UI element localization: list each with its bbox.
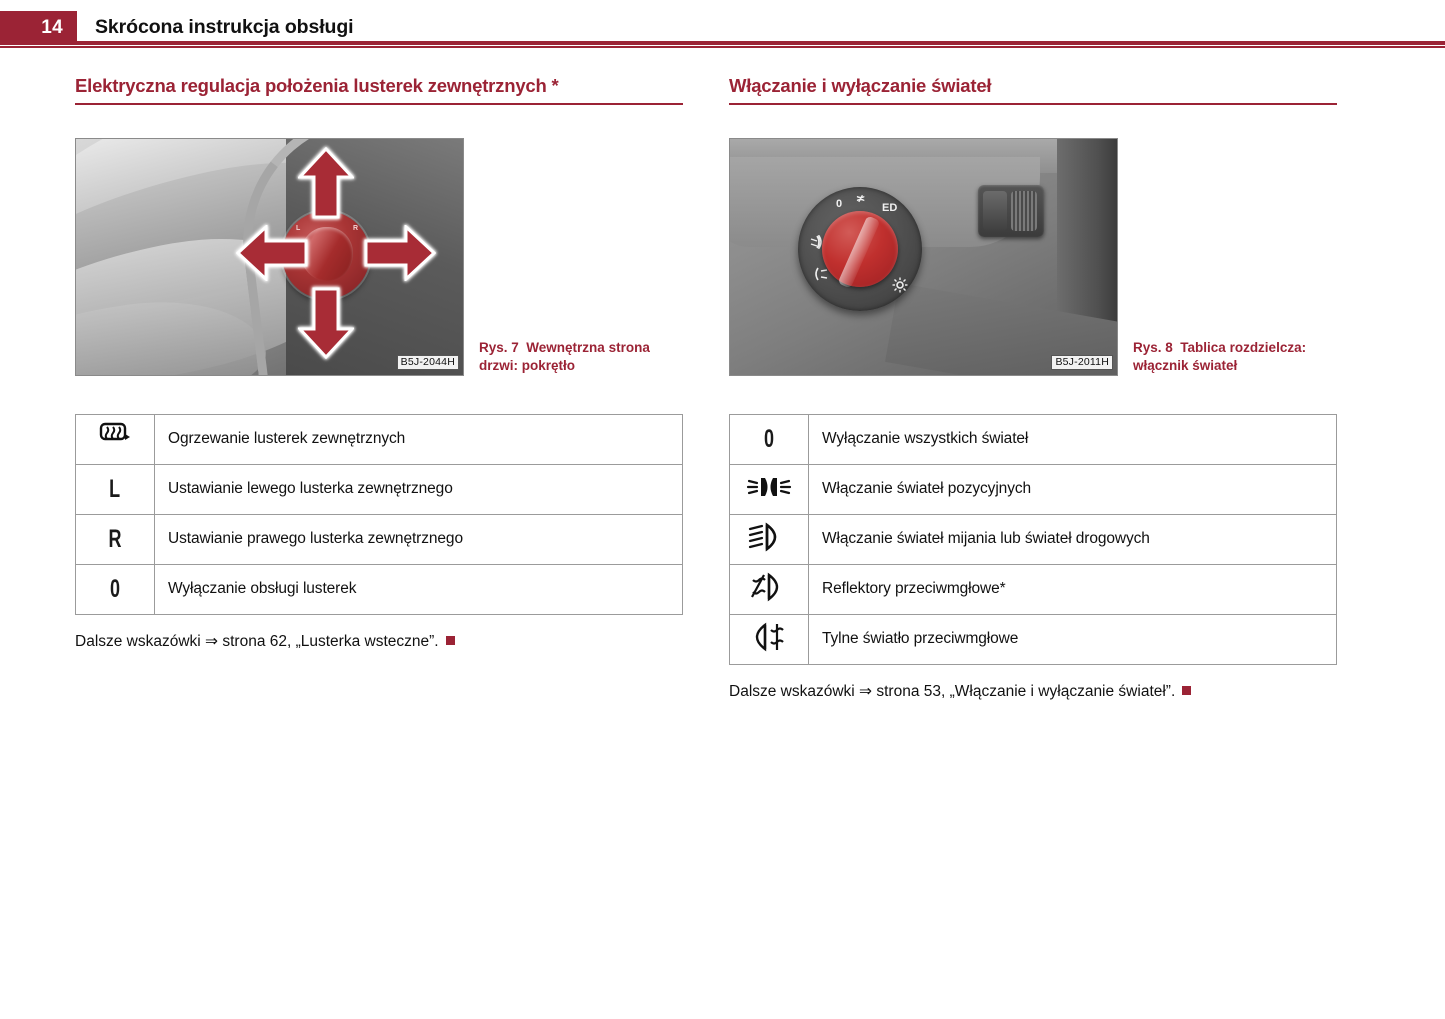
symbol-cell-all-lights-off: 0 bbox=[730, 414, 809, 464]
table-row: L Ustawianie lewego lusterka zewnętrzneg… bbox=[76, 464, 683, 514]
table-row: R Ustawianie prawego lusterka zewnętrzne… bbox=[76, 514, 683, 564]
figure-7-image: L R 0 bbox=[75, 138, 464, 376]
end-marker-square bbox=[446, 636, 455, 645]
mirror-symbol-table: Ogrzewanie lusterek zewnętrznych L Ustaw… bbox=[75, 414, 683, 615]
symbol-description: Reflektory przeciwmgłowe* bbox=[809, 564, 1337, 614]
switch-symbol-parking: ≭ bbox=[856, 194, 865, 205]
end-marker-square bbox=[1182, 686, 1191, 695]
letter-R-icon: R bbox=[108, 527, 121, 552]
figure-7-caption: Rys. 7 Wewnętrzna strona drzwi: pokrętło bbox=[479, 339, 689, 375]
symbol-description: Wyłączanie wszystkich świateł bbox=[809, 414, 1337, 464]
figure-8-row: 0 ≭ ED bbox=[729, 138, 1337, 376]
figure-8-image-code: B5J-2011H bbox=[1051, 355, 1113, 370]
figure-7-row: L R 0 bbox=[75, 138, 683, 376]
left-footnote-text: Dalsze wskazówki ⇒ strona 62, „Lusterka … bbox=[75, 633, 439, 650]
letter-zero-icon: 0 bbox=[764, 427, 774, 452]
symbol-description: Włączanie świateł pozycyjnych bbox=[809, 464, 1337, 514]
header-rule-thick bbox=[0, 41, 1445, 45]
page-number: 14 bbox=[0, 11, 77, 44]
arrow-left-icon bbox=[236, 225, 308, 281]
symbol-description: Tylne światło przeciwmgłowe bbox=[809, 614, 1337, 664]
left-column: Elektryczna regulacja położenia lusterek… bbox=[75, 75, 683, 651]
symbol-cell-low-beam bbox=[730, 514, 809, 564]
symbol-description: Włączanie świateł mijania lub świateł dr… bbox=[809, 514, 1337, 564]
right-heading-rule bbox=[729, 103, 1337, 105]
arrow-down-icon bbox=[298, 287, 354, 359]
page-header: 14 Skrócona instrukcja obsługi bbox=[0, 0, 1445, 48]
mirror-heating-icon bbox=[98, 422, 132, 452]
symbol-cell-mirror-off: 0 bbox=[76, 564, 155, 614]
symbol-cell-mirror-heating bbox=[76, 414, 155, 464]
symbol-cell-left-mirror: L bbox=[76, 464, 155, 514]
header-rule-thin bbox=[0, 46, 1445, 48]
table-row: Ogrzewanie lusterek zewnętrznych bbox=[76, 414, 683, 464]
right-footnote-text: Dalsze wskazówki ⇒ strona 53, „Włączanie… bbox=[729, 683, 1175, 700]
symbol-description: Wyłączanie obsługi lusterek bbox=[155, 564, 683, 614]
table-row: 0 Wyłączanie wszystkich świateł bbox=[730, 414, 1337, 464]
table-row: Włączanie świateł pozycyjnych bbox=[730, 464, 1337, 514]
figure-8-image: 0 ≭ ED bbox=[729, 138, 1118, 376]
table-row: Włączanie świateł mijania lub świateł dr… bbox=[730, 514, 1337, 564]
headlight-range-rocker-switch bbox=[978, 185, 1044, 237]
symbol-cell-front-fog bbox=[730, 564, 809, 614]
table-row: Tylne światło przeciwmgłowe bbox=[730, 614, 1337, 664]
parking-light-icon bbox=[746, 474, 792, 500]
switch-symbol-rear-fog-icon bbox=[812, 267, 828, 281]
switch-symbol-headlight: ED bbox=[882, 203, 897, 214]
left-footnote: Dalsze wskazówki ⇒ strona 62, „Lusterka … bbox=[75, 632, 683, 651]
page-title: Skrócona instrukcja obsługi bbox=[95, 16, 353, 39]
switch-symbol-off: 0 bbox=[836, 199, 842, 210]
light-symbol-table: 0 Wyłączanie wszystkich świateł bbox=[729, 414, 1337, 665]
figure-8-caption-label: Rys. 8 bbox=[1133, 340, 1173, 355]
symbol-description: Ogrzewanie lusterek zewnętrznych bbox=[155, 414, 683, 464]
figure-8-caption: Rys. 8 Tablica rozdzielcza: włącznik świ… bbox=[1133, 339, 1348, 375]
table-row: Reflektory przeciwmgłowe* bbox=[730, 564, 1337, 614]
letter-zero-icon: 0 bbox=[110, 577, 120, 602]
left-section-heading: Elektryczna regulacja położenia lusterek… bbox=[75, 75, 683, 103]
figure-7-image-code: B5J-2044H bbox=[397, 355, 459, 370]
symbol-description: Ustawianie prawego lusterka zewnętrznego bbox=[155, 514, 683, 564]
rear-fog-icon bbox=[747, 621, 791, 653]
arrow-up-icon bbox=[298, 147, 354, 219]
right-section-heading: Włączanie i wyłączanie świateł bbox=[729, 75, 1337, 103]
symbol-cell-right-mirror: R bbox=[76, 514, 155, 564]
front-fog-icon bbox=[747, 571, 791, 603]
arrow-right-icon bbox=[364, 225, 436, 281]
letter-L-icon: L bbox=[109, 477, 120, 502]
right-column: Włączanie i wyłączanie świateł 0 ≭ ED bbox=[729, 75, 1337, 701]
light-switch-icon: 0 ≭ ED bbox=[798, 187, 922, 311]
low-beam-icon bbox=[747, 522, 791, 552]
figure-7-caption-label: Rys. 7 bbox=[479, 340, 519, 355]
symbol-cell-rear-fog bbox=[730, 614, 809, 664]
dashboard-photo bbox=[730, 139, 1117, 375]
knob-label-R: R bbox=[353, 225, 358, 232]
table-row: 0 Wyłączanie obsługi lusterek bbox=[76, 564, 683, 614]
light-switch-knob bbox=[822, 211, 898, 287]
right-footnote: Dalsze wskazówki ⇒ strona 53, „Włączanie… bbox=[729, 682, 1337, 701]
symbol-description: Ustawianie lewego lusterka zewnętrznego bbox=[155, 464, 683, 514]
switch-symbol-dash-dimmer-icon bbox=[892, 277, 908, 293]
left-heading-rule bbox=[75, 103, 683, 105]
symbol-cell-parking-light bbox=[730, 464, 809, 514]
